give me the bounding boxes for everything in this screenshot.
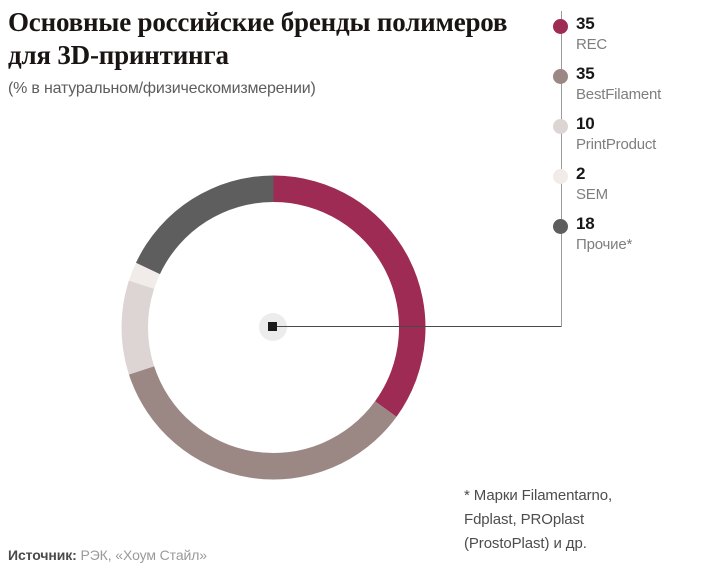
legend-value: 35 [576,14,595,34]
source-text: РЭК, «Хоум Стайл» [77,547,207,563]
page-title: Основные российские бренды полимеров для… [8,6,528,72]
donut-segment[interactable] [121,281,154,375]
donut-segment[interactable] [129,366,397,479]
legend-value: 18 [576,214,595,234]
legend-item[interactable]: 35BestFilament [548,64,700,114]
legend-swatch-icon [553,219,568,234]
donut-center-marker [268,322,277,331]
donut-segment[interactable] [136,176,274,275]
footnote-line-3: (ProstoPlast) и др. [464,532,704,556]
legend-label: Прочие* [576,236,632,253]
legend-label: PrintProduct [576,136,656,153]
legend-item[interactable]: 10PrintProduct [548,114,700,164]
footnote-line-2: Fdplast, PROplast [464,508,704,532]
legend-label: BestFilament [576,86,661,103]
legend-label: SEM [576,186,608,203]
chart-subtitle: (% в натуральном/физическомизмерении) [8,79,528,99]
source-label: Источник: [8,547,77,563]
chart-header: Основные российские бренды полимеров для… [8,6,528,99]
legend-item[interactable]: 18Прочие* [548,214,700,264]
legend-swatch-icon [553,19,568,34]
footnote-line-1: * Марки Filamentarno, [464,484,704,508]
legend-swatch-icon [553,69,568,84]
leader-line-horizontal [277,326,562,327]
legend-value: 2 [576,164,585,184]
legend-swatch-icon [553,119,568,134]
legend-value: 10 [576,114,595,134]
legend-item[interactable]: 35REC [548,14,700,64]
donut-segment[interactable] [274,176,426,417]
legend-swatch-icon [553,169,568,184]
legend-value: 35 [576,64,595,84]
source-line: Источник: РЭК, «Хоум Стайл» [8,547,207,563]
legend-label: REC [576,36,607,53]
legend-item[interactable]: 2SEM [548,164,700,214]
chart-legend: 35REC35BestFilament10PrintProduct2SEM18П… [548,14,700,264]
chart-footnote: * Марки Filamentarno, Fdplast, PROplast … [464,484,704,556]
